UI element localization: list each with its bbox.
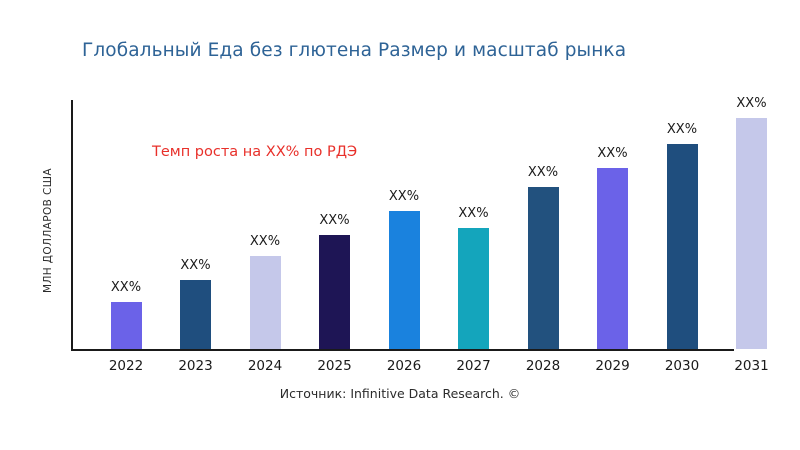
- bar-value-label-2024: XX%: [235, 234, 295, 249]
- market-size-chart: Глобальный Еда без глютена Размер и масш…: [0, 0, 800, 450]
- page-title: Глобальный Еда без глютена Размер и масш…: [82, 40, 722, 61]
- y-axis-label: МЛН ДОЛЛАРОВ США: [42, 168, 54, 293]
- source-note: Источник: Infinitive Data Research. ©: [0, 386, 800, 401]
- bar-value-label-2027: XX%: [444, 206, 504, 221]
- bar-2030: [667, 144, 698, 349]
- bar-2028: [528, 187, 559, 349]
- bar-value-label-2028: XX%: [513, 165, 573, 180]
- x-axis-line: [71, 349, 734, 351]
- bar-value-label-2029: XX%: [583, 146, 643, 161]
- growth-rate-annotation: Темп роста на XX% по РДЭ: [152, 144, 357, 160]
- bar-2022: [111, 302, 142, 349]
- y-axis-line: [71, 100, 73, 350]
- bar-2029: [597, 168, 628, 349]
- x-tick-2028: 2028: [513, 358, 573, 374]
- x-tick-2023: 2023: [166, 358, 226, 374]
- bar-value-label-2025: XX%: [305, 213, 365, 228]
- plot-area: Темп роста на XX% по РДЭ XX%XX%XX%XX%XX%…: [71, 100, 781, 350]
- bar-value-label-2023: XX%: [166, 258, 226, 273]
- bar-2031: [736, 118, 767, 349]
- bar-2023: [180, 280, 211, 349]
- x-tick-2024: 2024: [235, 358, 295, 374]
- bar-2027: [458, 228, 489, 349]
- x-tick-2026: 2026: [374, 358, 434, 374]
- bar-2024: [250, 256, 281, 349]
- bar-value-label-2031: XX%: [722, 96, 782, 111]
- x-tick-2022: 2022: [96, 358, 156, 374]
- y-axis-label-container: МЛН ДОЛЛАРОВ США: [24, 45, 46, 295]
- x-tick-2029: 2029: [583, 358, 643, 374]
- x-tick-2027: 2027: [444, 358, 504, 374]
- x-tick-2030: 2030: [652, 358, 712, 374]
- x-tick-2031: 2031: [722, 358, 782, 374]
- bar-value-label-2030: XX%: [652, 122, 712, 137]
- bar-2026: [389, 211, 420, 349]
- x-tick-2025: 2025: [305, 358, 365, 374]
- bar-value-label-2026: XX%: [374, 189, 434, 204]
- bar-value-label-2022: XX%: [96, 280, 156, 295]
- bar-2025: [319, 235, 350, 349]
